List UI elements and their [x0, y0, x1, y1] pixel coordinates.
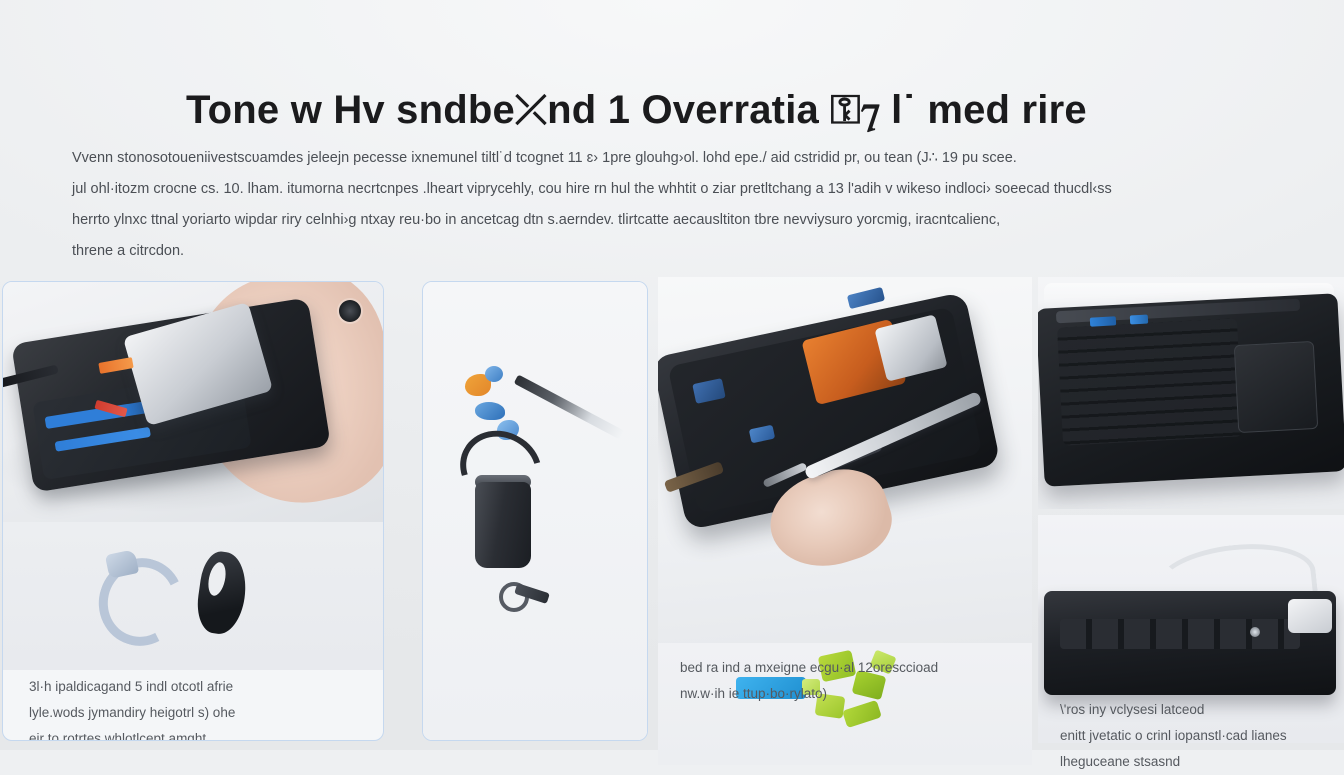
photo-phone-internals	[658, 277, 1032, 643]
blue-ribbon-cable	[1130, 315, 1148, 325]
caption-line: 3l·h ipaldicagand 5 indl otcotl afrie	[29, 674, 369, 700]
figure-caption: \'ros iny vclysesi latceod enitt jvetati…	[1046, 697, 1336, 775]
figure-panel-phone-back-cover-removal: 3l·h ipaldicagand 5 indl otcotl afrie ly…	[2, 281, 384, 741]
figure-caption: 3l·h ipaldicagand 5 indl otcotl afrie ly…	[3, 674, 383, 741]
body-line: Vvenn stonosotoueniivestscʋamdes jeleejn…	[72, 143, 1277, 174]
caption-line: lheguceane stsasnd	[1060, 749, 1322, 775]
figure-panel-laptop-side-ports: \'ros iny vclysesi latceod enitt jvetati…	[1038, 515, 1344, 743]
blue-connector-chip	[847, 287, 885, 309]
photo-laptop-topdown	[1038, 277, 1344, 509]
blue-chip-blob	[475, 402, 505, 420]
caption-line: eir to rotrtes whlotlcept.amght.	[29, 726, 369, 741]
figure-panel-laptop-keyboard-topdown	[1038, 277, 1344, 509]
tool-canister	[475, 482, 531, 568]
figure-panel-repair-tools-spudger	[422, 281, 648, 741]
laptop-trackpad	[1234, 341, 1318, 433]
body-line: threne a citrcdon.	[72, 236, 1277, 267]
plastic-clip-part	[87, 547, 194, 657]
laptop-keyboard	[1057, 318, 1243, 445]
page-title: Tone w Hv sndbe⤫nd 1 Overratia ⚿⁊ l˙ med…	[186, 88, 1166, 132]
figure-caption: bed ra ind a mxeigne ecgu·al 12oresccioa…	[666, 645, 1024, 707]
photo-repair-tools	[423, 282, 647, 741]
document-content: Tone w Hv sndbe⤫nd 1 Overratia ⚿⁊ l˙ med…	[0, 0, 1344, 750]
scalpel-blade	[514, 374, 625, 439]
body-paragraph: Vvenn stonosotoueniivestscʋamdes jeleejn…	[72, 143, 1277, 267]
caption-line: nw.w·ih ie ttup·bo·rylato)	[680, 681, 1010, 707]
camera-lens-icon	[339, 300, 361, 322]
figure-grid: 3l·h ipaldicagand 5 indl otcotl afrie ly…	[0, 277, 1344, 750]
caption-line: enitt jvetatic o crinl iopanstl·cad lian…	[1060, 723, 1322, 749]
photo-clip-parts	[3, 522, 383, 670]
blue-chip-blob	[485, 366, 503, 382]
caption-line: bed ra ind a mxeigne ecgu·al 12oresccioa…	[680, 655, 1010, 681]
figure-panel-phone-internals-tweezers: bed ra ind a mxeigne ecgu·al 12oresccioa…	[658, 277, 1032, 743]
photo-phone-back-cover-removal	[3, 282, 383, 522]
body-line: jul ohl·itozm crocne cs. 10. lham. itumo…	[72, 174, 1277, 205]
caption-line: \'ros iny vclysesi latceod	[1060, 697, 1322, 723]
port-row	[1060, 619, 1300, 649]
status-led-icon	[1250, 627, 1260, 637]
cable-plug	[1288, 599, 1332, 633]
blue-ribbon-cable	[1090, 316, 1116, 326]
caption-line: lyle.wods jymandiry heigotrl s) ohe	[29, 700, 369, 726]
body-line: herrto ylnxc ttnal yoriarto wipdar riry …	[72, 205, 1277, 236]
